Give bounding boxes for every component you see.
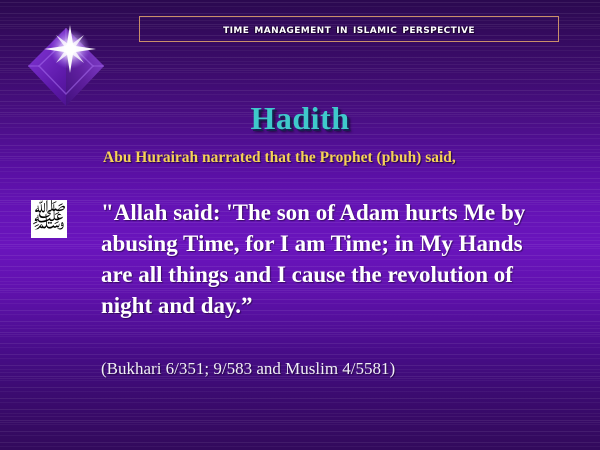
slide-canvas: Time Management in Islamic Perspective H…: [0, 0, 600, 450]
hadith-citation-text: (Bukhari 6/351; 9/583 and Muslim 4/5581): [101, 358, 541, 379]
header-title-text: Time Management in Islamic Perspective: [223, 21, 475, 37]
hadith-quote-text: "Allah said: 'The son of Adam hurts Me b…: [101, 197, 541, 321]
page-title-text: Hadith: [250, 100, 349, 136]
diamond-gem-sparkle-icon: [25, 24, 107, 108]
sallallahu-alayhi-wasallam-glyph: ﷺ: [31, 203, 67, 233]
header-title-box: Time Management in Islamic Perspective: [139, 16, 559, 42]
narration-text: Abu Hurairah narrated that the Prophet (…: [103, 148, 533, 167]
page-title: Hadith: [0, 100, 600, 137]
arabic-calligraphy-seal-icon: ﷺ: [31, 200, 67, 238]
